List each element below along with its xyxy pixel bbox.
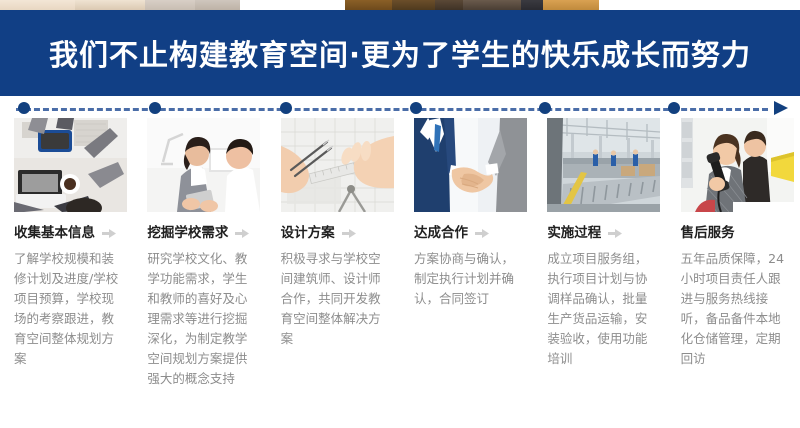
step-title: 实施过程	[547, 224, 601, 242]
step-description: 研究学校文化、教学功能需求，学生和教师的喜好及心理需求等进行挖掘深化，为制定教学…	[147, 249, 259, 389]
step-description: 积极寻求与学校空间建筑师、设计师合作，共同开发教育空间整体解决方案	[281, 249, 393, 349]
step-thumbnail	[147, 118, 260, 212]
step-header: 达成合作	[414, 224, 525, 242]
process-step-card: 达成合作 方案协商与确认，制定执行计划并确认，合同签订	[400, 118, 533, 428]
arrow-right-icon	[102, 224, 117, 243]
step-thumbnail	[14, 118, 127, 212]
progress-rail-dot	[149, 102, 161, 114]
step-header: 收集基本信息	[14, 224, 125, 242]
arrow-right-icon	[774, 101, 788, 115]
process-steps-row: 收集基本信息 了解学校规模和装修计划及进度/学校项目预算，学校现场的考察跟进，教…	[0, 118, 800, 428]
step-title: 售后服务	[681, 224, 735, 242]
headline-banner: 我们不止构建教育空间·更为了学生的快乐成长而努力	[0, 10, 800, 96]
step-thumbnail	[414, 118, 527, 212]
arrow-right-icon	[342, 224, 357, 243]
progress-rail-dot	[410, 102, 422, 114]
process-step-card: 售后服务 五年品质保障，24小时项目责任人跟进与服务热线接听，备品备件本地化仓储…	[667, 118, 800, 428]
arrow-right-icon	[475, 224, 490, 243]
arrow-right-icon	[235, 224, 250, 243]
progress-rail-dot	[539, 102, 551, 114]
progress-rail-dot	[280, 102, 292, 114]
progress-rail-dot	[668, 102, 680, 114]
step-header: 售后服务	[681, 224, 792, 242]
step-description: 五年品质保障，24小时项目责任人跟进与服务热线接听，备品备件本地化仓储管理，定期…	[681, 249, 793, 369]
arrow-right-icon	[608, 224, 623, 243]
step-header: 挖掘学校需求	[147, 224, 258, 242]
top-image-remnant-strip	[0, 0, 800, 10]
progress-rail-dashed-line	[16, 108, 768, 111]
progress-rail-dot	[18, 102, 30, 114]
step-description: 方案协商与确认，制定执行计划并确认，合同签订	[414, 249, 526, 309]
step-header: 实施过程	[547, 224, 658, 242]
step-thumbnail	[281, 118, 394, 212]
step-description: 成立项目服务组，执行项目计划与协调样品确认，批量生产货品运输，安装验收，使用功能…	[547, 249, 659, 369]
step-thumbnail	[681, 118, 794, 212]
step-title: 达成合作	[414, 224, 468, 242]
process-step-card: 实施过程 成立项目服务组，执行项目计划与协调样品确认，批量生产货品运输，安装验收…	[533, 118, 666, 428]
step-title: 挖掘学校需求	[147, 224, 228, 242]
step-thumbnail	[547, 118, 660, 212]
process-step-card: 设计方案 积极寻求与学校空间建筑师、设计师合作，共同开发教育空间整体解决方案	[267, 118, 400, 428]
step-title: 收集基本信息	[14, 224, 95, 242]
headline-text: 我们不止构建教育空间·更为了学生的快乐成长而努力	[49, 32, 751, 74]
step-title: 设计方案	[281, 224, 335, 242]
step-header: 设计方案	[281, 224, 392, 242]
process-step-card: 挖掘学校需求 研究学校文化、教学功能需求，学生和教师的喜好及心理需求等进行挖掘深…	[133, 118, 266, 428]
process-step-card: 收集基本信息 了解学校规模和装修计划及进度/学校项目预算，学校现场的考察跟进，教…	[0, 118, 133, 428]
step-description: 了解学校规模和装修计划及进度/学校项目预算，学校现场的考察跟进，教育空间整体规划…	[14, 249, 126, 369]
